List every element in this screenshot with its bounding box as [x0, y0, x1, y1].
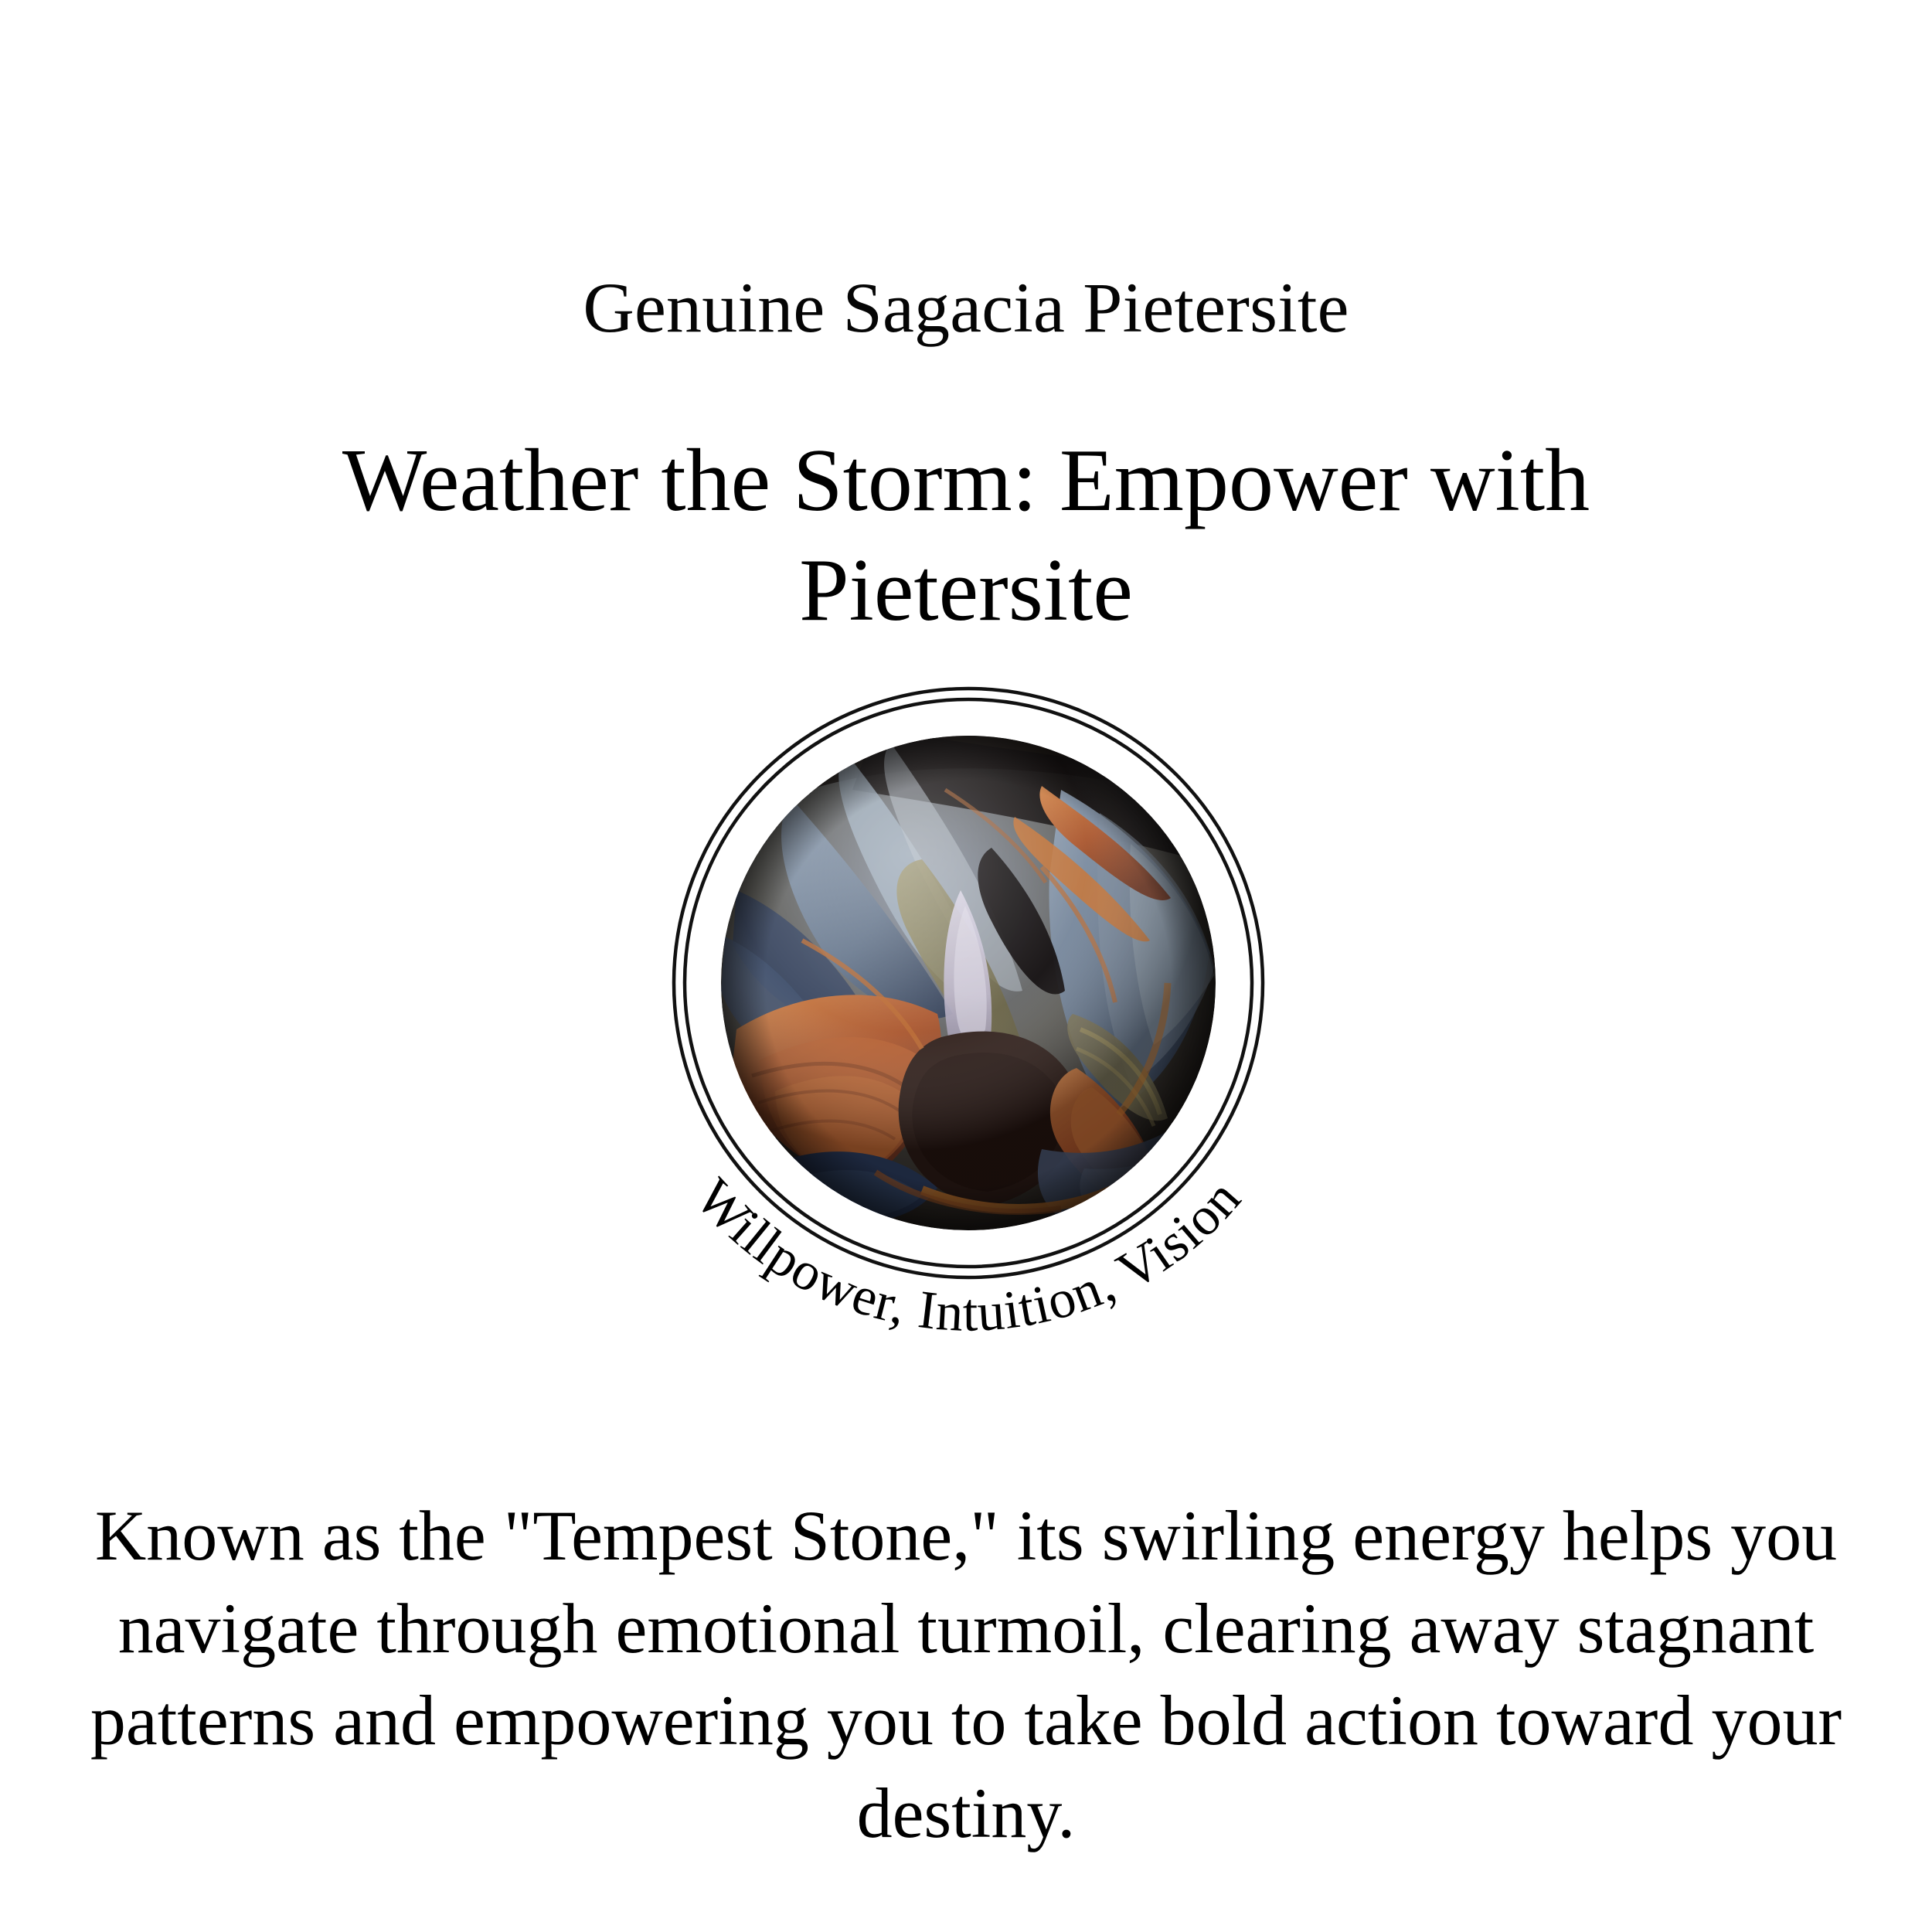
page-root: Genuine Sagacia Pietersite Weather the S…: [0, 0, 1932, 1932]
stone-description: Known as the "Tempest Stone," its swirli…: [0, 1490, 1932, 1859]
product-line-title: Genuine Sagacia Pietersite: [0, 272, 1932, 343]
pietersite-stone-image: [713, 728, 1223, 1230]
seal-graphic: Willpower, Intuition, Vision: [536, 550, 1401, 1416]
